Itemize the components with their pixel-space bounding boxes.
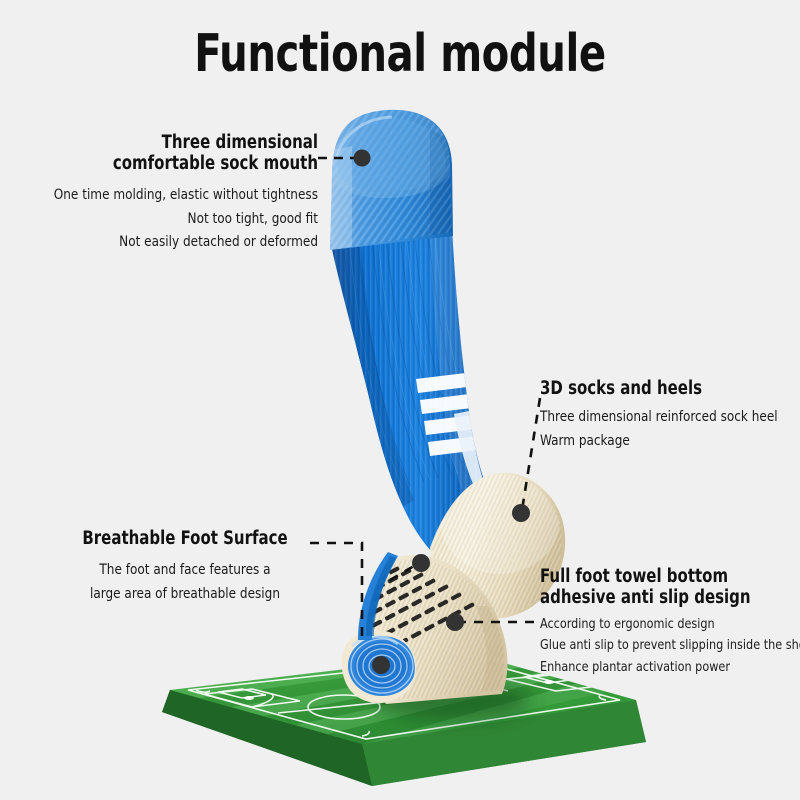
infographic-canvas: Functional module bbox=[0, 0, 800, 800]
callout-body: One time molding, elastic without tightn… bbox=[25, 183, 318, 254]
marker-dot-toe bbox=[372, 656, 390, 674]
callout-heading: Full foot towel bottom adhesive anti sli… bbox=[540, 566, 770, 609]
callout-body: The foot and face features a large area … bbox=[70, 558, 300, 605]
callout-3d-socks-and-heels: 3D socks and heels Three dimensional rei… bbox=[540, 378, 790, 453]
callout-body: According to ergonomic design Glue anti … bbox=[540, 614, 775, 678]
sock-cuff bbox=[320, 100, 470, 260]
marker-dot-heel bbox=[512, 504, 530, 522]
marker-dot-breathable bbox=[412, 554, 430, 572]
callout-breathable-foot-surface: Breathable Foot Surface The foot and fac… bbox=[60, 528, 310, 606]
callout-three-dimensional-comfortable-sock-mouth: Three dimensional comfortable sock mouth… bbox=[0, 132, 318, 254]
callout-full-foot-towel-bottom-adhesive-anti-slip-design: Full foot towel bottom adhesive anti sli… bbox=[540, 566, 795, 678]
callout-heading: 3D socks and heels bbox=[540, 378, 765, 399]
marker-dot-cuff bbox=[354, 150, 371, 167]
callout-heading: Breathable Foot Surface bbox=[73, 528, 298, 549]
leader-line-breathable bbox=[310, 543, 362, 640]
callout-heading: Three dimensional comfortable sock mouth bbox=[32, 132, 318, 175]
callout-body: Three dimensional reinforced sock heel W… bbox=[540, 405, 770, 452]
marker-dot-sole bbox=[446, 613, 464, 631]
